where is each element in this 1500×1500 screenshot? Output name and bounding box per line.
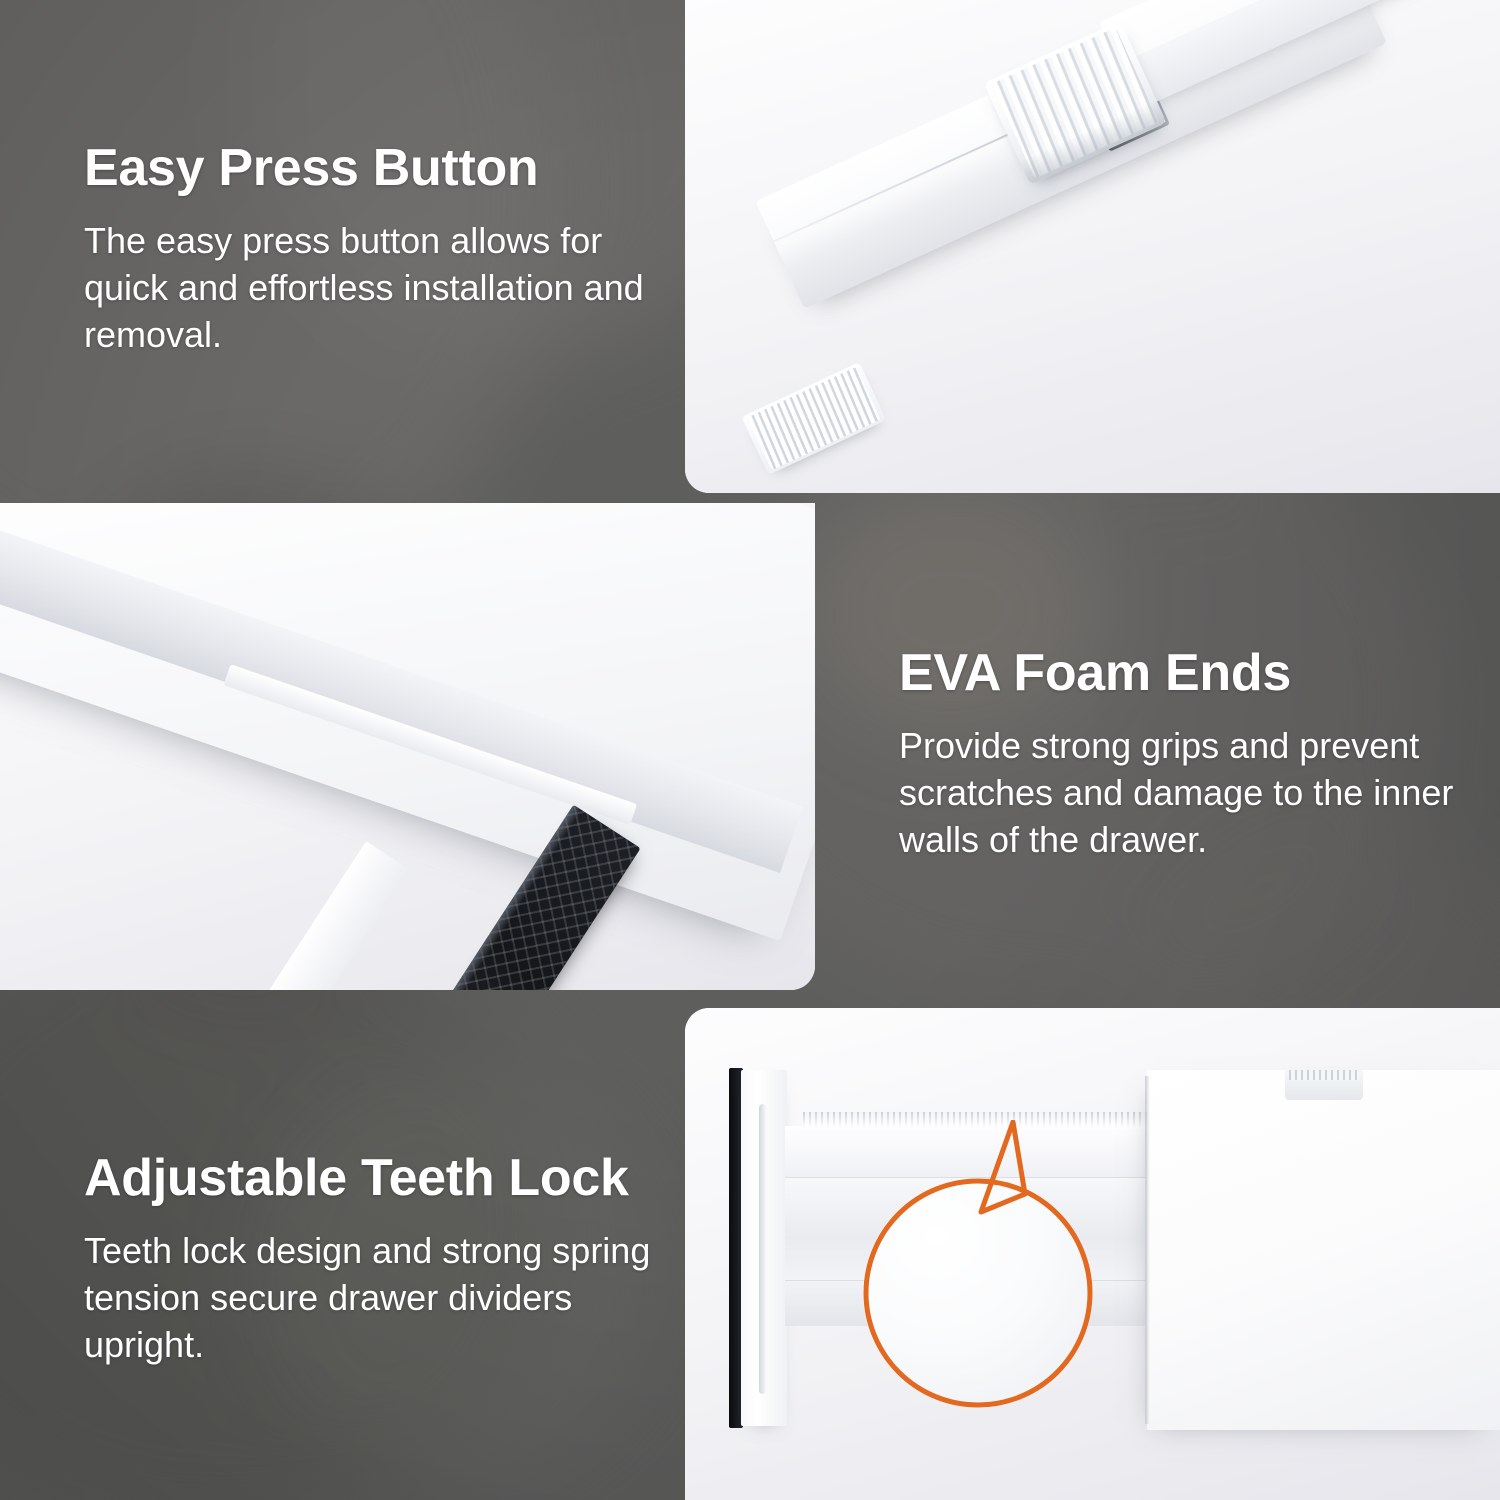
infographic-canvas: Easy Press Button The easy press button …: [0, 0, 1500, 1500]
panel-adjustable-teeth-lock: [685, 1008, 1500, 1500]
text-block-adjustable-teeth-lock: Adjustable Teeth Lock Teeth lock design …: [84, 1150, 674, 1369]
panel-eva-foam-ends: [0, 503, 815, 990]
divider-right-body: [1147, 1070, 1500, 1430]
feature-body-easy-press-button: The easy press button allows for quick a…: [84, 218, 674, 358]
callout-circle: [866, 1181, 1090, 1405]
text-block-easy-press-button: Easy Press Button The easy press button …: [84, 140, 674, 359]
feature-body-adjustable-teeth-lock: Teeth lock design and strong spring tens…: [84, 1228, 674, 1368]
panel-easy-press-button: [685, 0, 1500, 493]
text-block-eva-foam-ends: EVA Foam Ends Provide strong grips and p…: [899, 645, 1459, 864]
orange-magnifier-callout-icon: [863, 1120, 1143, 1420]
feature-heading-eva-foam-ends: EVA Foam Ends: [899, 645, 1459, 701]
feature-heading-adjustable-teeth-lock: Adjustable Teeth Lock: [84, 1150, 674, 1206]
product-photo-eva-foam-end: [0, 503, 815, 990]
product-photo-press-button: [685, 0, 1500, 493]
feature-heading-easy-press-button: Easy Press Button: [84, 140, 674, 196]
divider-white-rail: [170, 841, 410, 990]
notch-teeth: [1289, 1070, 1359, 1080]
product-photo-teeth-lock: [685, 1008, 1500, 1500]
feature-body-eva-foam-ends: Provide strong grips and prevent scratch…: [899, 723, 1459, 863]
ribbed-tail-detail: [741, 362, 886, 475]
divider-body-seam: [1145, 1076, 1150, 1424]
end-cap-groove: [759, 1104, 766, 1394]
ribbed-tail-ribs: [747, 367, 880, 470]
callout-pointer-tail: [981, 1122, 1025, 1212]
